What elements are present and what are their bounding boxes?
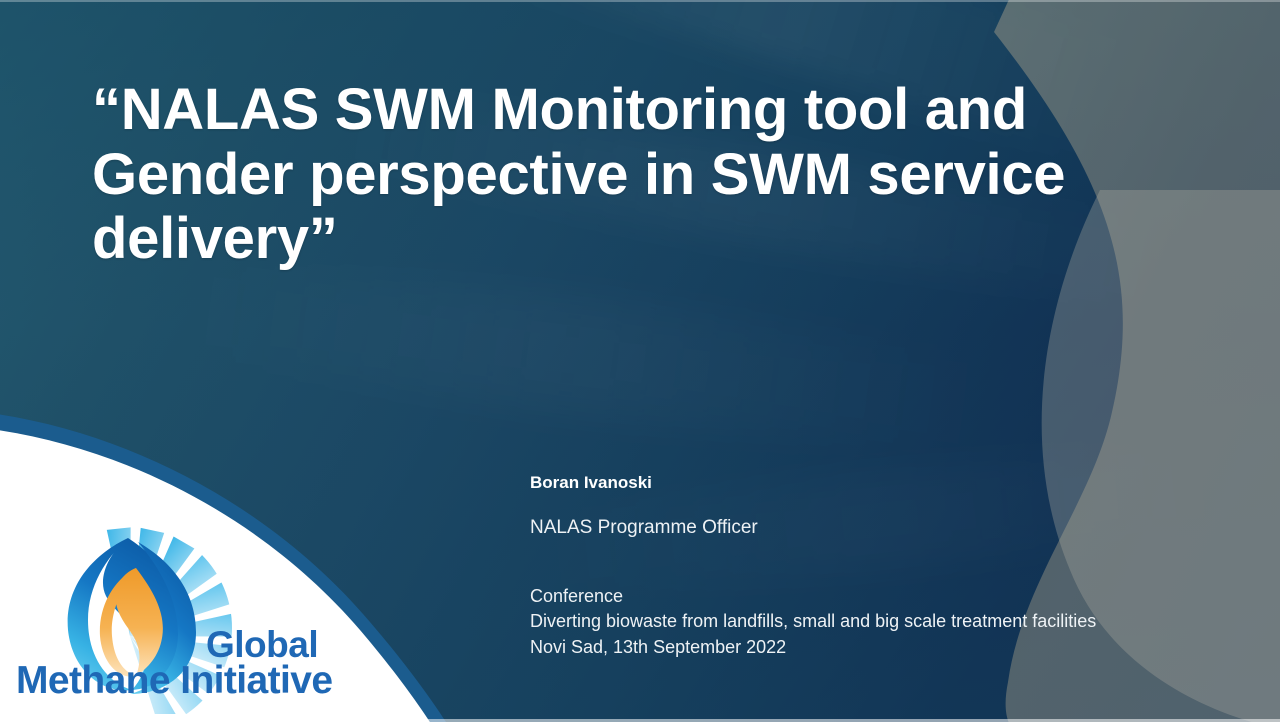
event-label: Conference — [530, 584, 1220, 610]
event-location-date: Novi Sad, 13th September 2022 — [530, 635, 1220, 661]
presenter-details: Boran Ivanoski NALAS Programme Officer C… — [530, 472, 1220, 660]
slide-title: “NALAS SWM Monitoring tool and Gender pe… — [92, 78, 1162, 272]
presentation-slide: “NALAS SWM Monitoring tool and Gender pe… — [0, 0, 1280, 722]
gmi-logo: Global Methane Initiative — [10, 524, 380, 714]
logo-word-methane-initiative: Methane Initiative — [16, 659, 332, 703]
presenter-name: Boran Ivanoski — [530, 472, 1220, 494]
event-details: Conference Diverting biowaste from landf… — [530, 584, 1220, 661]
presenter-role: NALAS Programme Officer — [530, 516, 1220, 541]
event-description: Diverting biowaste from landfills, small… — [530, 609, 1220, 635]
